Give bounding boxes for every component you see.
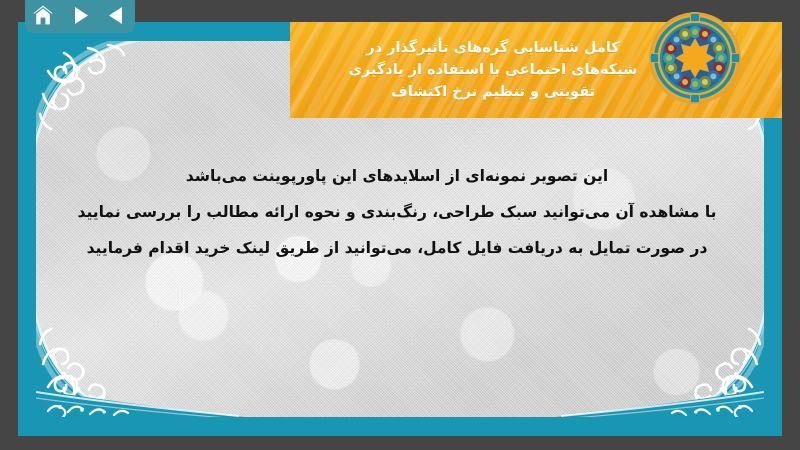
- slide-navigation-bar: [25, 0, 135, 33]
- slide-viewer-stage: این تصویر نمونه‌ای از اسلایدهای این پاور…: [0, 0, 800, 450]
- body-line-1: این تصویر نمونه‌ای از اسلایدهای این پاور…: [66, 159, 728, 195]
- previous-triangle-icon: [108, 6, 125, 25]
- bottom-flourish-left: [36, 385, 244, 417]
- body-line-3: در صورت تمایل به دریافت فایل کامل، می‌تو…: [66, 231, 728, 267]
- next-slide-button[interactable]: [67, 3, 93, 27]
- slide-body-text: این تصویر نمونه‌ای از اسلایدهای این پاور…: [66, 159, 728, 267]
- bottom-flourish-right: [556, 385, 764, 417]
- slide-title-banner: کامل شناسایی گره‌های تأثیرگذار در شبکه‌ه…: [290, 22, 782, 118]
- title-line-3: تقویتی و تنظیم نرخ اکتشاف: [300, 81, 686, 103]
- home-button[interactable]: [30, 3, 56, 27]
- title-line-2: شبکه‌های اجتماعی با استفاده از یادگیری: [300, 59, 686, 81]
- home-icon: [32, 5, 54, 26]
- presentation-slide: این تصویر نمونه‌ای از اسلایدهای این پاور…: [18, 22, 782, 436]
- corner-ornament-bottom-right: [646, 299, 764, 417]
- corner-ornament-top-left: [36, 41, 154, 159]
- slide-title: کامل شناسایی گره‌های تأثیرگذار در شبکه‌ه…: [300, 37, 686, 103]
- previous-slide-button[interactable]: [104, 3, 130, 27]
- title-line-1: کامل شناسایی گره‌های تأثیرگذار در: [300, 37, 686, 59]
- corner-ornament-bottom-left: [36, 299, 154, 417]
- body-line-2: با مشاهده آن می‌توانید سبک طراحی، رنگ‌بن…: [66, 195, 728, 231]
- next-triangle-icon: [72, 6, 89, 25]
